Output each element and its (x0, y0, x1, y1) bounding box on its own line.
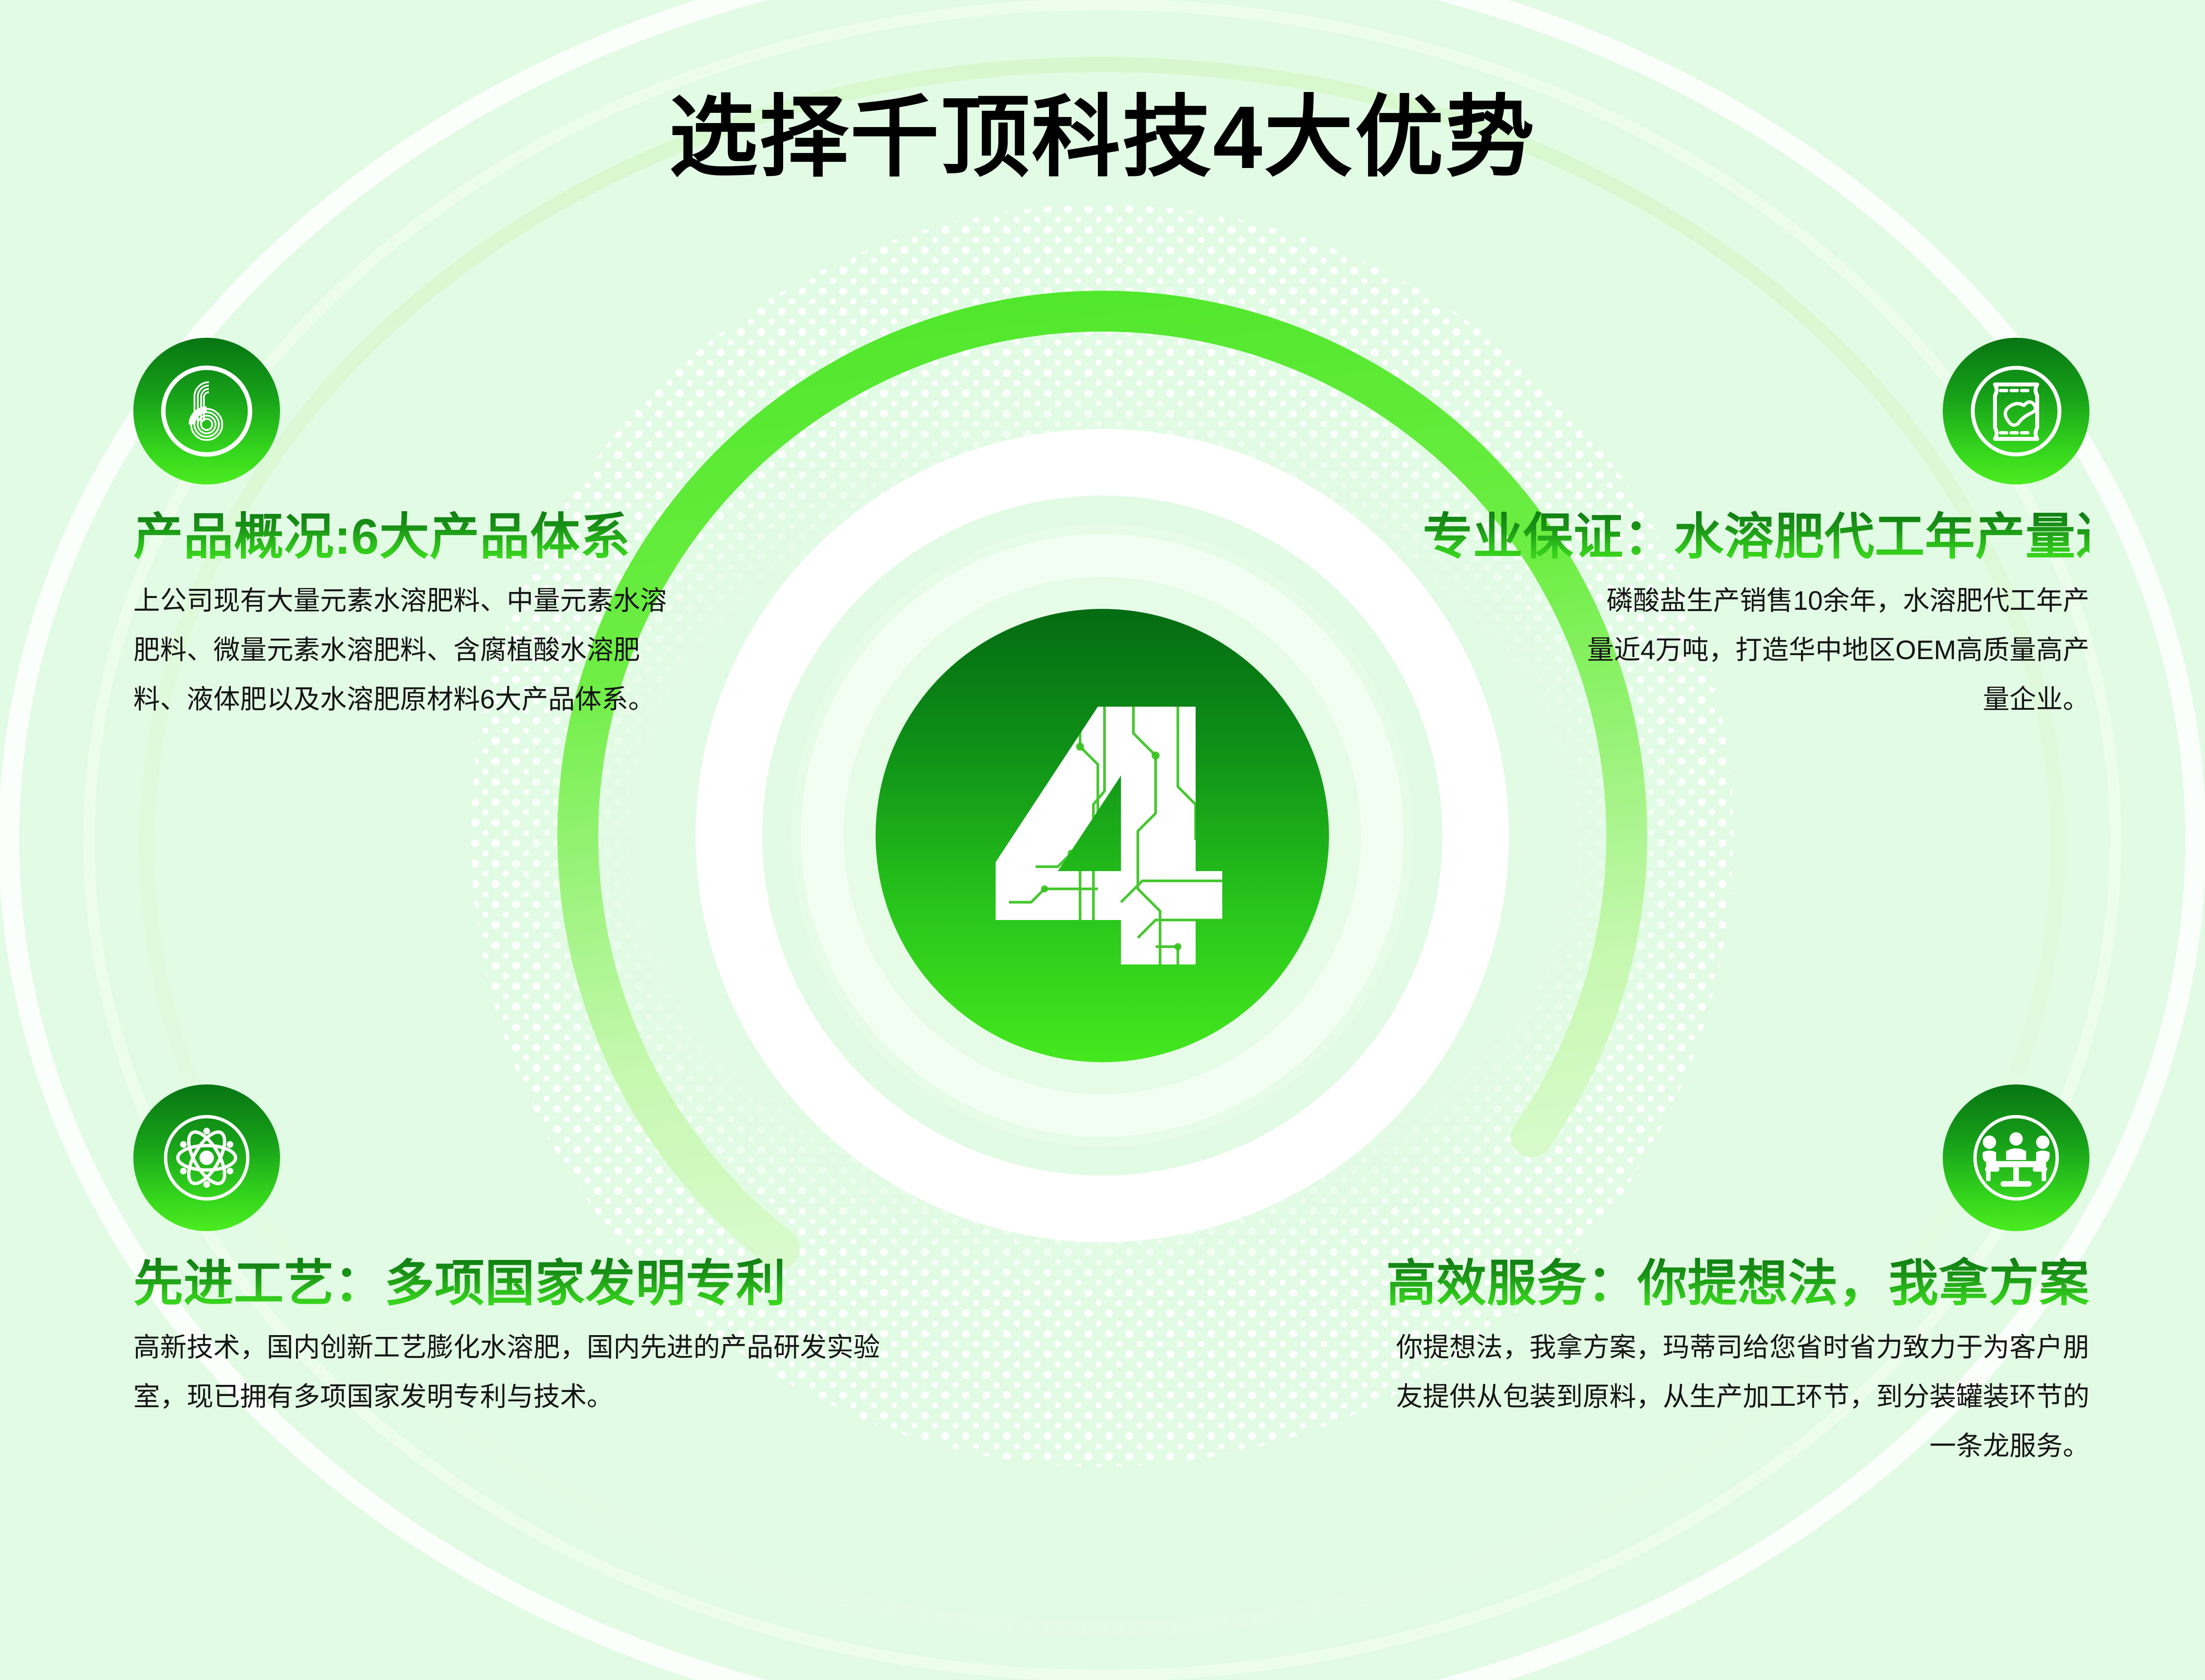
center-disc (876, 609, 1329, 1062)
advantage-body: 高新技术，国内创新工艺膨化水溶肥，国内先进的产品研发实验室，现已拥有多项国家发明… (133, 1323, 880, 1421)
advantage-body: 上公司现有大量元素水溶肥料、中量元素水溶肥料、微量元素水溶肥料、含腐植酸水溶肥料… (133, 576, 689, 724)
advantage-heading: 高效服务：你提想法，我拿方案 (1294, 1254, 2089, 1313)
atom-icon (133, 1084, 280, 1231)
advantage-card-advanced-process: 先进工艺：多项国家发明专利 高新技术，国内创新工艺膨化水溶肥，国内先进的产品研发… (133, 1084, 911, 1421)
advantage-heading: 产品概况:6大产品体系 (133, 508, 711, 566)
circuit-four-icon (947, 680, 1258, 991)
advantage-card-professional-guarantee: 专业保证：水溶肥代工年产量近4万吨 磷酸盐生产销售10余年，水溶肥代工年产量近4… (1423, 338, 2089, 724)
number-six-rings-icon (133, 338, 280, 484)
advantage-card-product-overview: 产品概况:6大产品体系 上公司现有大量元素水溶肥料、中量元素水溶肥料、微量元素水… (133, 338, 711, 724)
advantage-heading: 专业保证：水溶肥代工年产量近4万吨 (1423, 508, 2089, 566)
advantage-body: 磷酸盐生产销售10余年，水溶肥代工年产量近4万吨，打造华中地区OEM高质量高产量… (1583, 576, 2089, 724)
advantage-card-efficient-service: 高效服务：你提想法，我拿方案 你提想法，我拿方案，玛蒂司给您省时省力致力于为客户… (1294, 1084, 2089, 1471)
advantage-body: 你提想法，我拿方案，玛蒂司给您省时省力致力于为客户朋友提供从包装到原料，从生产加… (1378, 1323, 2089, 1471)
center-number-badge (858, 591, 1347, 1080)
page-title: 选择千顶科技4大优势 (0, 89, 2205, 187)
fertilizer-bag-icon (1943, 338, 2089, 484)
meeting-table-icon (1943, 1084, 2089, 1231)
advantage-heading: 先进工艺：多项国家发明专利 (133, 1254, 911, 1313)
